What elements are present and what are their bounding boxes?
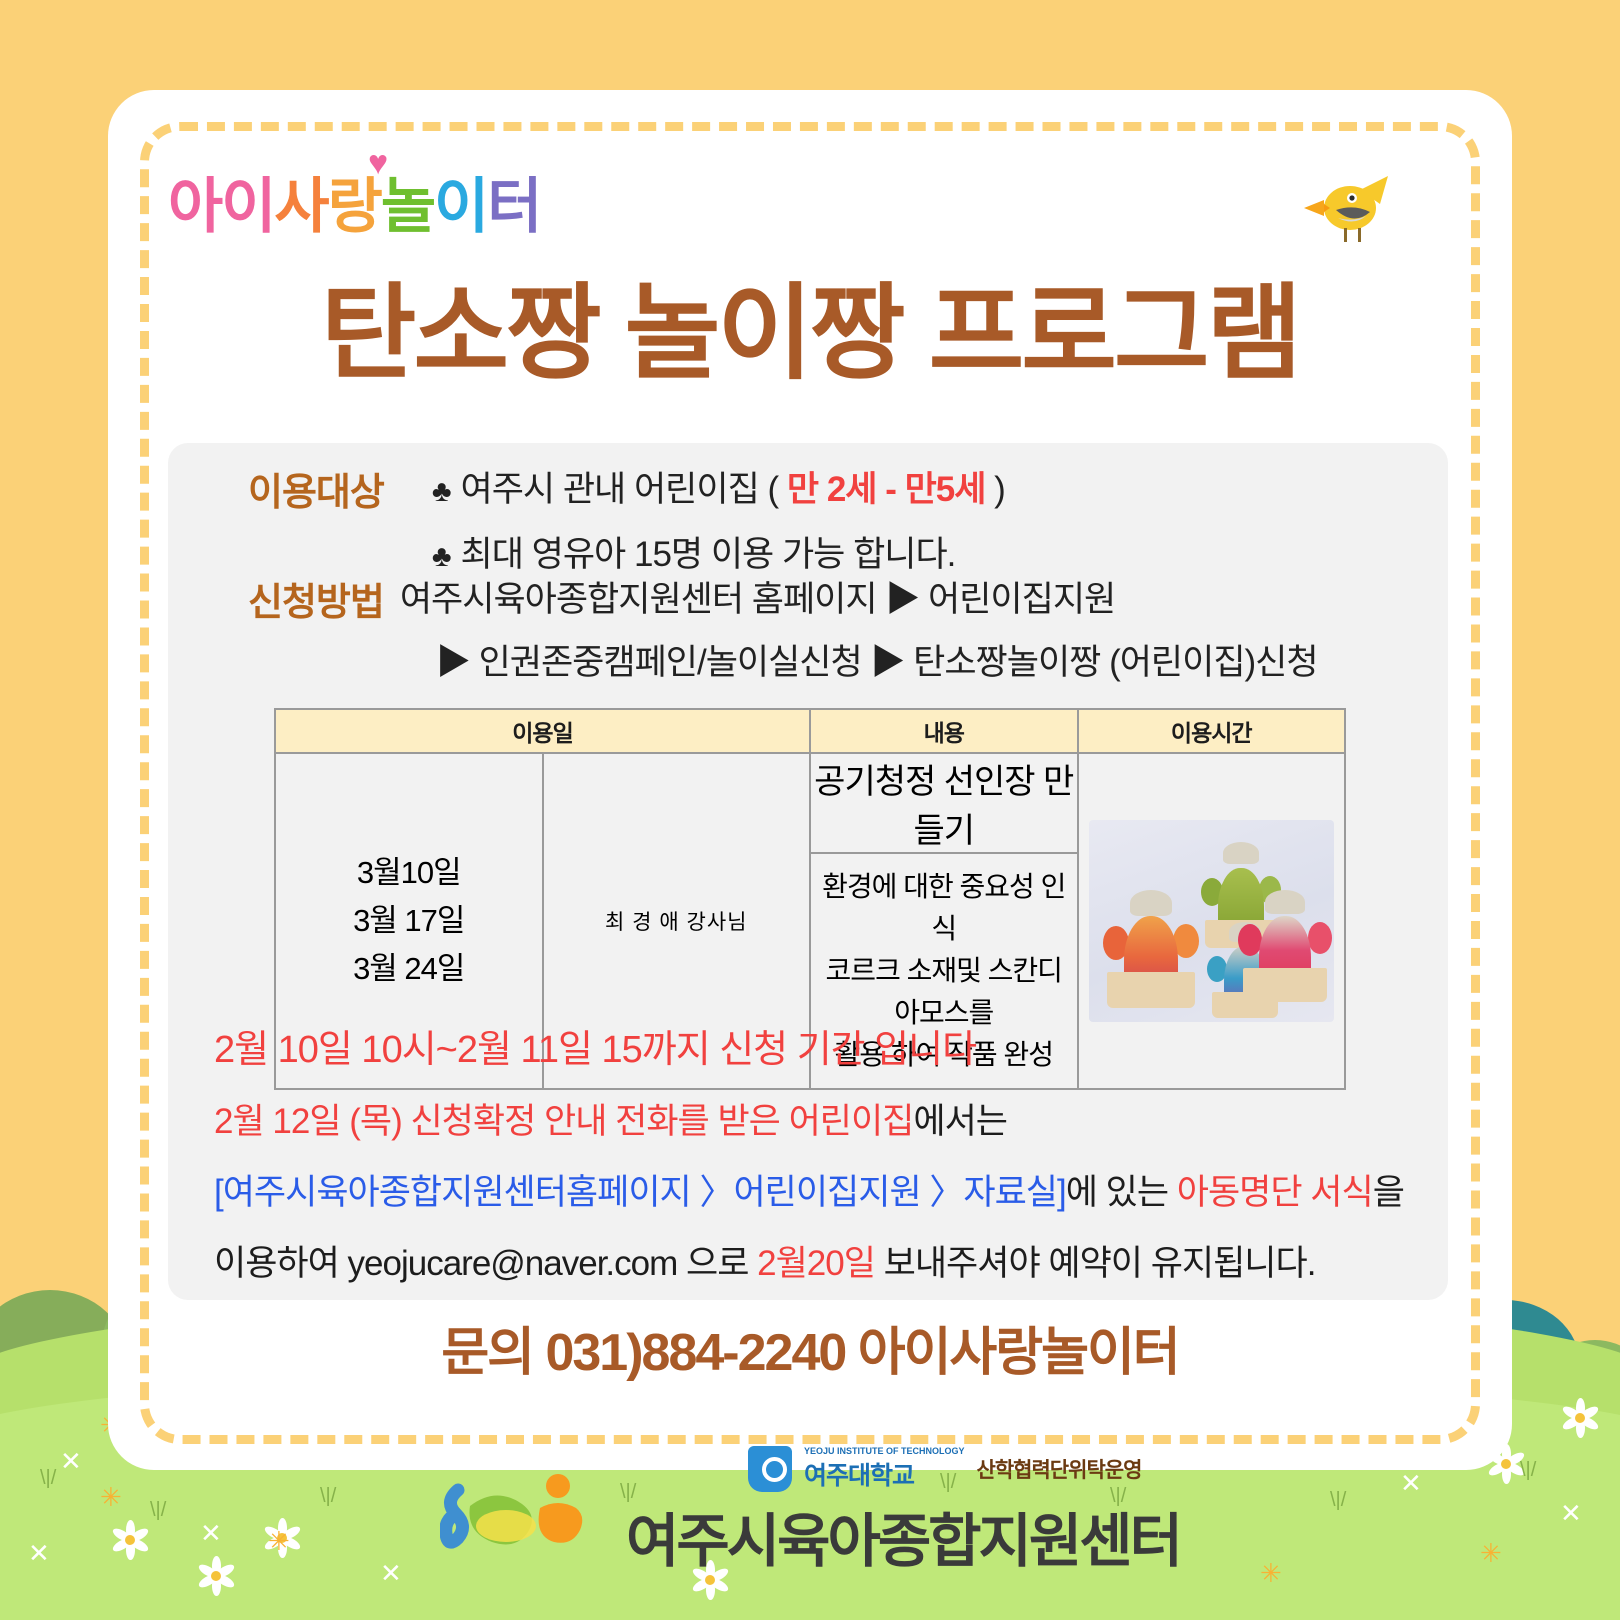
notice-line: [여주시육아종합지원센터홈페이지 〉어린이집지원 〉자료실]에 있는 아동명단 …	[214, 1164, 1444, 1215]
logo-char: 놀	[381, 173, 434, 240]
target-label: 이용대상	[248, 461, 384, 516]
info-panel: 이용대상 ♣여주시 관내 어린이집 ( 만 2세 - 만5세 ) ♣최대 영유아…	[168, 443, 1448, 1300]
target-line-suffix: )	[985, 470, 1004, 509]
logo-char: 사	[274, 173, 327, 240]
notice-line: 2월 12일 (목) 신청확정 안내 전화를 받은 어린이집에서는	[214, 1093, 1444, 1144]
cactus-orange	[1103, 890, 1199, 1008]
table-header-row: 이용일 내용 이용시간	[275, 709, 1345, 753]
notice-line: 2월 10일 10시~2월 11일 15까지 신청 기간 입니다	[214, 1018, 1444, 1073]
bird-icon	[1300, 170, 1392, 250]
table-row: 3월10일 3월 17일 3월 24일 최 경 애 강사님 공기청정 선인장 만…	[275, 753, 1345, 853]
logo-char: 아	[168, 173, 221, 240]
footer: YEOJU INSTITUTE OF TECHNOLOGY 여주대학교 산학협력…	[0, 1446, 1620, 1578]
target-line-text: 여주시 관내 어린이집 (	[461, 470, 787, 509]
university-subtitle: YEOJU INSTITUTE OF TECHNOLOGY	[804, 1446, 965, 1456]
notice-line: 이용하여 yeojucare@naver.com 으로 2월20일 보내주셔야 …	[214, 1235, 1444, 1286]
cell-topic: 공기청정 선인장 만들기	[810, 753, 1078, 853]
date-item: 3월 17일	[276, 897, 542, 945]
notice-segment: 아동명단 서식	[1177, 1173, 1373, 1212]
logo-char: 랑	[328, 173, 381, 240]
date-item: 3월10일	[276, 849, 542, 897]
notice-segment: 을	[1373, 1173, 1404, 1212]
cactus-pink	[1238, 890, 1332, 1002]
logo-char: 이	[221, 173, 274, 240]
notice-segment: 에 있는	[1066, 1173, 1177, 1212]
heart-icon: ♥	[368, 144, 386, 183]
footer-top-row: YEOJU INSTITUTE OF TECHNOLOGY 여주대학교 산학협력…	[748, 1446, 1180, 1492]
brand-logo: 아이사랑놀이터 ♥	[168, 158, 540, 245]
logo-char: 이	[434, 173, 487, 240]
apply-label: 신청방법	[248, 571, 384, 626]
apply-line: ▶ 인권존중캠페인/놀이실신청 ▶ 탄소짱놀이짱 (어린이집)신청	[436, 634, 1318, 685]
contact-line: 문의 031)884-2240 아이사랑놀이터	[0, 1310, 1620, 1385]
footer-text: YEOJU INSTITUTE OF TECHNOLOGY 여주대학교 산학협력…	[626, 1446, 1180, 1578]
university-name: 여주대학교	[804, 1456, 965, 1492]
notice-block: 2월 10일 10시~2월 11일 15까지 신청 기간 입니다 2월 12일 …	[214, 1018, 1444, 1306]
notice-segment: 이용하여 yeojucare@naver.com 으로	[214, 1244, 757, 1283]
detail-line: 환경에 대한 중요성 인식	[817, 866, 1071, 950]
club-icon: ♣	[432, 475, 451, 508]
notice-segment: [여주시육아종합지원센터홈페이지 〉어린이집지원 〉자료실]	[214, 1173, 1066, 1212]
notice-segment: 2월 10일 10시~2월 11일 15까지 신청 기간 입니다	[214, 1029, 976, 1071]
notice-segment: 2월 12일 (목) 신청확정 안내 전화를 받은 어린이집	[214, 1102, 913, 1141]
target-line-text: 최대 영유아 15명 이용 가능 합니다.	[461, 535, 956, 574]
column-header-date: 이용일	[275, 709, 810, 753]
notice-segment: 보내주셔야 예약이 유지됩니다.	[875, 1244, 1316, 1283]
target-line: ♣최대 영유아 15명 이용 가능 합니다.	[432, 526, 1005, 577]
apply-section: 신청방법 여주시육아종합지원센터 홈페이지 ▶ 어린이집지원 ▶ 인권존중캠페인…	[248, 571, 1438, 697]
club-icon: ♣	[432, 540, 451, 573]
age-range: 만 2세 - 만5세	[787, 470, 986, 509]
cactus-craft-photo	[1089, 820, 1335, 1022]
daisy-icon	[1560, 1398, 1600, 1438]
cooperation-text: 산학협력단위탁운영	[977, 1454, 1142, 1484]
university-badge-icon	[748, 1446, 792, 1492]
apply-line: 여주시육아종합지원센터 홈페이지 ▶ 어린이집지원	[400, 571, 1318, 622]
center-logo-icon	[440, 1464, 608, 1560]
logo-char: 터	[487, 173, 540, 240]
column-header-time: 이용시간	[1078, 709, 1346, 753]
date-item: 3월 24일	[276, 945, 542, 993]
column-header-content: 내용	[810, 709, 1078, 753]
page-title: 탄소짱 놀이짱 프로그램	[0, 248, 1620, 399]
notice-segment: 에서는	[913, 1102, 1007, 1141]
notice-segment: 2월20일	[757, 1244, 875, 1283]
center-name: 여주시육아종합지원센터	[626, 1494, 1180, 1578]
target-line: ♣여주시 관내 어린이집 ( 만 2세 - 만5세 )	[432, 461, 1005, 512]
